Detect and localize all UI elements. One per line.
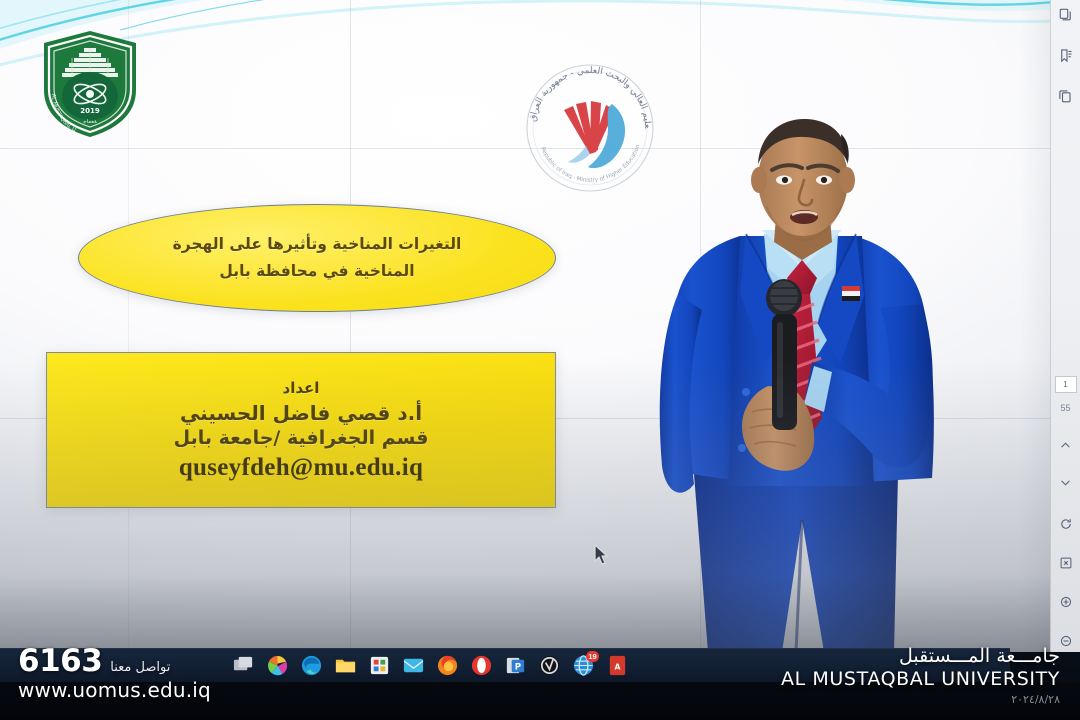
svg-text:A: A <box>615 662 621 671</box>
microsoft-store-icon[interactable] <box>266 654 289 677</box>
author-email: quseyfdeh@mu.edu.iq <box>179 454 423 482</box>
file-explorer-icon[interactable] <box>334 654 357 677</box>
contact-arabic-label: تواصل معنا <box>110 660 170 675</box>
rotate-icon[interactable] <box>1055 513 1077 535</box>
svg-text:ﺔﻌﻣﺎﺟ: ﺔﻌﻣﺎﺟ <box>82 119 97 125</box>
svg-text:2019: 2019 <box>80 107 100 115</box>
slide-title-ellipse: التغيرات المناخية وتأثيرها على الهجرة ال… <box>78 204 556 312</box>
iraq-flag-lapel-pin <box>842 286 860 301</box>
brand-arabic-name: جامـــعة المـــستقبل <box>781 645 1060 667</box>
powerpoint-icon[interactable]: P <box>504 654 527 677</box>
slide-author-box: اعداد أ.د قصي فاضل الحسيني قسم الجغرافية… <box>46 352 556 508</box>
contact-website: www.uomus.edu.iq <box>18 678 211 702</box>
microsoft-edge-icon[interactable] <box>300 654 323 677</box>
fit-page-icon[interactable] <box>1055 552 1077 574</box>
next-page-icon[interactable] <box>1055 472 1077 494</box>
prepared-by-label: اعداد <box>283 379 320 397</box>
author-department: قسم الجغرافية /جامعة بابل <box>174 427 429 449</box>
panel-seam <box>350 0 351 652</box>
mail-icon[interactable] <box>402 654 425 677</box>
pdf-reader-sidebar[interactable]: 1 55 <box>1050 0 1080 652</box>
slide-title-text: التغيرات المناخية وتأثيرها على الهجرة ال… <box>117 231 517 285</box>
contact-number: 6163 <box>18 646 102 677</box>
contact-overlay: 6163 تواصل معنا www.uomus.edu.iq <box>18 646 211 702</box>
brand-date: ٢٠٢٤/٨/٢٨ <box>781 693 1060 706</box>
al-mustaqbal-university-logo: 2019 ﺔﻌﻣﺎﺟ AL MUSTAQBAL UNIVERSITY <box>36 28 144 140</box>
office-suite-icon[interactable] <box>368 654 391 677</box>
page-number-input[interactable]: 1 <box>1055 376 1077 394</box>
task-view-icon[interactable] <box>232 654 255 677</box>
opera-icon[interactable] <box>470 654 493 677</box>
presenter-person <box>636 118 966 652</box>
previous-page-icon[interactable] <box>1055 435 1077 457</box>
screenshot-root: 2019 ﺔﻌﻣﺎﺟ AL MUSTAQBAL UNIVERSITY <box>0 0 1080 720</box>
brand-english-name: AL MUSTAQBAL UNIVERSITY <box>781 668 1060 690</box>
author-name: أ.د قصي فاضل الحسيني <box>180 401 422 425</box>
slide-title-line-2: المناخية في محافظة بابل <box>117 258 517 285</box>
zoom-in-icon[interactable] <box>1055 591 1077 613</box>
screen-bevel <box>1020 0 1050 652</box>
firefox-icon[interactable] <box>436 654 459 677</box>
thumbnails-icon[interactable] <box>1055 4 1077 26</box>
copy-pages-icon[interactable] <box>1055 86 1077 108</box>
slide-title-line-1: التغيرات المناخية وتأثيرها على الهجرة <box>117 231 517 258</box>
svg-text:P: P <box>515 662 521 672</box>
university-brand-overlay: جامـــعة المـــستقبل AL MUSTAQBAL UNIVER… <box>781 645 1060 706</box>
browser-notification-badge: 19 <box>586 651 599 662</box>
browser-icon[interactable]: 19 <box>572 654 595 677</box>
projection-screen: 2019 ﺔﻌﻣﺎﺟ AL MUSTAQBAL UNIVERSITY <box>0 0 1050 652</box>
page-total-label: 55 <box>1060 403 1070 413</box>
pdf-reader-icon[interactable]: A <box>606 654 629 677</box>
bookmark-icon[interactable] <box>1055 45 1077 67</box>
antivirus-shield-icon[interactable] <box>538 654 561 677</box>
mouse-pointer-cursor <box>594 544 610 566</box>
